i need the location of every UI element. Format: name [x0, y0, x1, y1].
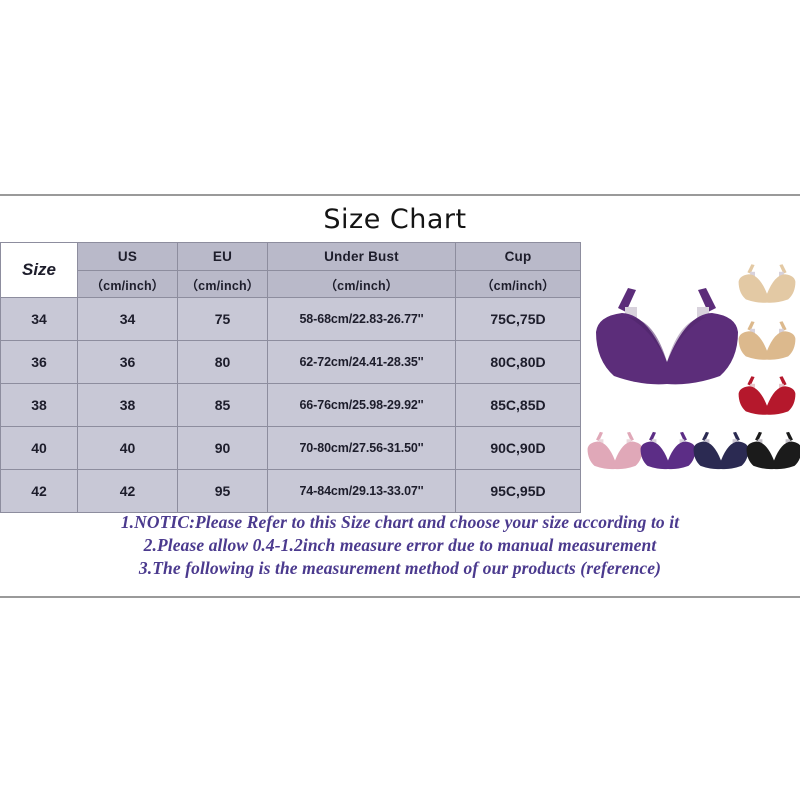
bra-purple-image [639, 428, 697, 476]
cell-size: 40 [1, 427, 78, 470]
cell-eu: 75 [178, 298, 268, 341]
notice-line-3: 3.The following is the measurement metho… [0, 558, 800, 579]
table-row: 34 34 75 58-68cm/22.83-26.77'' 75C,75D [1, 298, 581, 341]
cell-cup: 75C,75D [456, 298, 581, 341]
size-chart-table: Size US EU Under Bust Cup （cm/inch） （cm/… [0, 242, 581, 513]
table-body: 34 34 75 58-68cm/22.83-26.77'' 75C,75D 3… [1, 298, 581, 513]
column-unit-eu: （cm/inch） [178, 271, 268, 298]
column-header-eu: EU [178, 243, 268, 271]
table-header-row-units: （cm/inch） （cm/inch） （cm/inch） （cm/inch） [1, 271, 581, 298]
bra-purple-large-icon [592, 280, 742, 400]
size-chart-panel: Size Chart Size US EU Under Bust Cup （cm… [0, 194, 800, 598]
bra-pink-icon [586, 428, 644, 476]
cell-eu: 80 [178, 341, 268, 384]
cell-size: 36 [1, 341, 78, 384]
column-unit-us: （cm/inch） [78, 271, 178, 298]
cell-eu: 85 [178, 384, 268, 427]
bra-tan-image [737, 317, 797, 367]
cell-under-bust: 70-80cm/27.56-31.50'' [268, 427, 456, 470]
cell-us: 34 [78, 298, 178, 341]
table-header: Size US EU Under Bust Cup （cm/inch） （cm/… [1, 243, 581, 298]
notice-line-1: 1.NOTIC:Please Refer to this Size chart … [0, 512, 800, 533]
table-row: 42 42 95 74-84cm/29.13-33.07'' 95C,95D [1, 470, 581, 513]
bra-red-icon [737, 372, 797, 422]
column-header-under-bust: Under Bust [268, 243, 456, 271]
cell-under-bust: 74-84cm/29.13-33.07'' [268, 470, 456, 513]
bra-pink-image [586, 428, 644, 476]
cell-cup: 95C,95D [456, 470, 581, 513]
bra-black-image [745, 428, 800, 476]
notice-line-2: 2.Please allow 0.4-1.2inch measure error… [0, 535, 800, 556]
bra-red-image [737, 372, 797, 422]
column-header-us: US [78, 243, 178, 271]
cell-eu: 95 [178, 470, 268, 513]
product-image-gallery [582, 242, 800, 507]
bra-tan-icon [737, 317, 797, 367]
table-row: 38 38 85 66-76cm/25.98-29.92'' 85C,85D [1, 384, 581, 427]
cell-us: 38 [78, 384, 178, 427]
bra-navy-image [692, 428, 750, 476]
notice-block: 1.NOTIC:Please Refer to this Size chart … [0, 512, 800, 581]
cell-size: 38 [1, 384, 78, 427]
bra-black-icon [745, 428, 800, 476]
bra-navy-icon [692, 428, 750, 476]
cell-under-bust: 62-72cm/24.41-28.35'' [268, 341, 456, 384]
cell-cup: 90C,90D [456, 427, 581, 470]
cell-size: 42 [1, 470, 78, 513]
cell-under-bust: 58-68cm/22.83-26.77'' [268, 298, 456, 341]
bra-beige-icon [737, 260, 797, 310]
cell-us: 40 [78, 427, 178, 470]
bra-purple-large-image [592, 280, 742, 400]
table-row: 40 40 90 70-80cm/27.56-31.50'' 90C,90D [1, 427, 581, 470]
cell-eu: 90 [178, 427, 268, 470]
cell-us: 42 [78, 470, 178, 513]
table-row: 36 36 80 62-72cm/24.41-28.35'' 80C,80D [1, 341, 581, 384]
cell-under-bust: 66-76cm/25.98-29.92'' [268, 384, 456, 427]
cell-cup: 85C,85D [456, 384, 581, 427]
table-header-row-primary: Size US EU Under Bust Cup [1, 243, 581, 271]
cell-size: 34 [1, 298, 78, 341]
cell-us: 36 [78, 341, 178, 384]
column-unit-cup: （cm/inch） [456, 271, 581, 298]
column-unit-under-bust: （cm/inch） [268, 271, 456, 298]
column-header-size: Size [1, 243, 78, 298]
bra-purple-icon [639, 428, 697, 476]
cell-cup: 80C,80D [456, 341, 581, 384]
page-title: Size Chart [0, 204, 790, 235]
column-header-cup: Cup [456, 243, 581, 271]
bra-beige-image [737, 260, 797, 310]
